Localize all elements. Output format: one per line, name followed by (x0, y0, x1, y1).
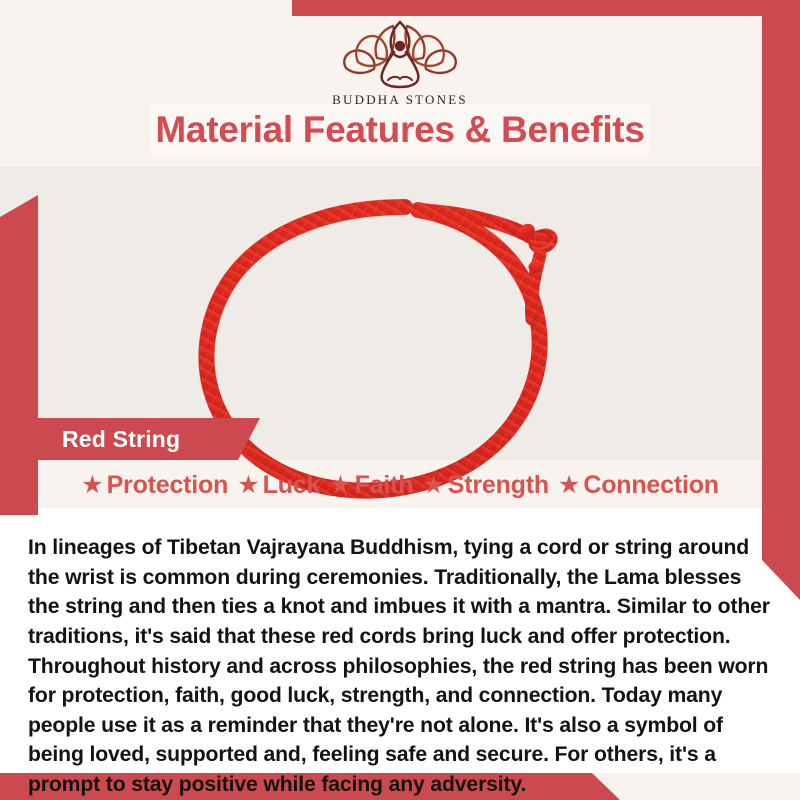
benefit-item-protection: ★ Protection (81, 471, 228, 500)
star-icon: ★ (422, 473, 444, 498)
benefit-label: Luck (263, 471, 321, 500)
benefit-label: Connection (583, 471, 719, 500)
product-name-ribbon: Red String (0, 418, 260, 460)
benefit-label: Strength (448, 471, 549, 500)
benefit-item-faith: ★ Faith (329, 471, 413, 500)
top-red-accent-bar (292, 0, 800, 16)
description-paragraph: In lineages of Tibetan Vajrayana Buddhis… (28, 533, 776, 799)
brand-logo: BUDDHA STONES (0, 18, 800, 108)
benefit-item-strength: ★ Strength (422, 471, 549, 500)
star-icon: ★ (558, 473, 580, 498)
benefit-item-luck: ★ Luck (237, 471, 320, 500)
benefit-label: Protection (107, 471, 229, 500)
star-icon: ★ (237, 473, 259, 498)
title-banner: Material Features & Benefits (150, 104, 650, 156)
lotus-meditation-icon (336, 18, 464, 90)
benefit-label: Faith (355, 471, 414, 500)
page-title: Material Features & Benefits (155, 109, 644, 151)
infographic-card: BUDDHA STONES Material Features & Benefi… (0, 0, 800, 800)
benefit-item-connection: ★ Connection (558, 471, 719, 500)
figure-head (395, 41, 405, 51)
star-icon: ★ (329, 473, 351, 498)
benefits-list: ★ Protection ★ Luck ★ Faith ★ Strength ★… (30, 464, 770, 506)
product-name: Red String (62, 426, 180, 453)
star-icon: ★ (81, 473, 103, 498)
